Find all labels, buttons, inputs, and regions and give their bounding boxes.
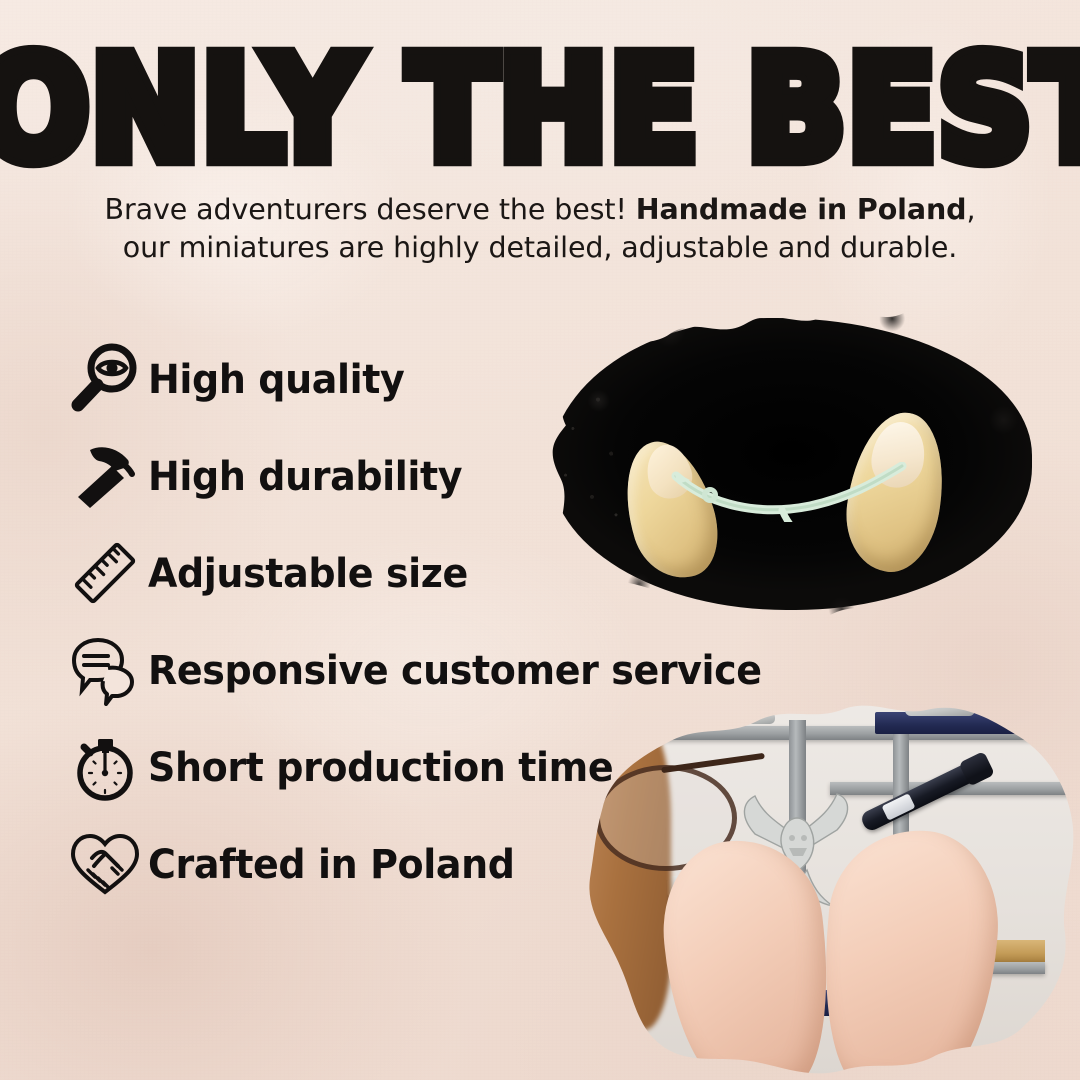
ruler-icon bbox=[62, 531, 148, 615]
subtitle: Brave adventurers deserve the best! Hand… bbox=[60, 191, 1020, 267]
promotional-poster: ONLY THE BEST Brave adventurers deserve … bbox=[0, 0, 1080, 1080]
feature-label: High durability bbox=[148, 452, 462, 499]
subtitle-line2: our miniatures are highly detailed, adju… bbox=[123, 231, 958, 264]
heart-handshake-icon bbox=[62, 822, 148, 906]
page-title: ONLY THE BEST bbox=[0, 38, 1080, 182]
feature-item-customer-service: Responsive customer service bbox=[62, 621, 822, 718]
feature-item-adjustable-size: Adjustable size bbox=[62, 524, 822, 621]
feature-label: Short production time bbox=[148, 743, 613, 790]
feature-item-high-quality: High quality bbox=[62, 330, 822, 427]
subtitle-highlight: Handmade in Poland bbox=[636, 193, 967, 226]
feature-item-high-durability: High durability bbox=[62, 427, 822, 524]
feature-item-production-time: Short production time bbox=[62, 718, 822, 815]
fingernail-right bbox=[867, 418, 930, 492]
feature-label: Responsive customer service bbox=[148, 646, 762, 693]
feature-label: High quality bbox=[148, 355, 404, 402]
subtitle-tail: , bbox=[966, 193, 975, 226]
headline-container: ONLY THE BEST bbox=[0, 38, 1080, 164]
feature-item-crafted-in-poland: Crafted in Poland bbox=[62, 815, 822, 912]
magnifier-eye-icon bbox=[62, 337, 148, 421]
feature-label: Crafted in Poland bbox=[148, 840, 515, 887]
feature-label: Adjustable size bbox=[148, 549, 468, 596]
chat-bubbles-icon bbox=[62, 628, 148, 712]
stopwatch-icon bbox=[62, 725, 148, 809]
feature-list: High quality High durability bbox=[62, 330, 822, 912]
hammer-icon bbox=[62, 434, 148, 518]
subtitle-lead: Brave adventurers deserve the best! bbox=[105, 193, 636, 226]
